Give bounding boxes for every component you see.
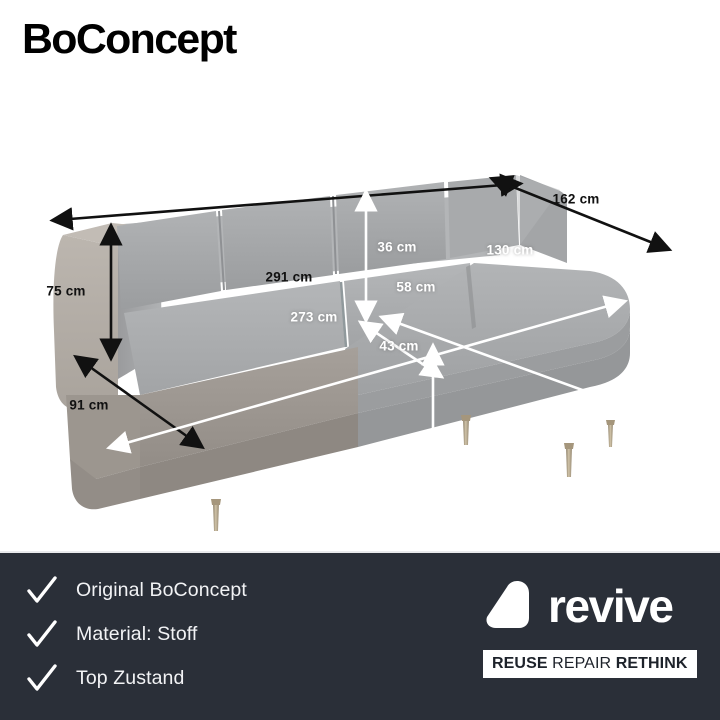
dimension-label-91: 91 cm	[69, 398, 108, 413]
list-item-label: Top Zustand	[76, 667, 184, 690]
sofa-graphic	[53, 175, 630, 531]
check-icon	[27, 576, 57, 606]
dimension-label-130: 130 cm	[487, 243, 534, 258]
product-image-canvas: BoConcept	[0, 0, 720, 720]
list-item-label: Material: Stoff	[76, 623, 197, 646]
tagline-word-rethink: RETHINK	[616, 655, 688, 672]
back-cushion-1	[117, 211, 221, 310]
dimension-label-58: 58 cm	[396, 280, 435, 295]
revive-tagline: REUSE REPAIR RETHINK	[483, 650, 697, 678]
dimension-label-43: 43 cm	[379, 339, 418, 354]
revive-logo-row: revive	[483, 575, 695, 637]
dimension-label-291: 291 cm	[266, 270, 313, 285]
revive-leaf-icon	[483, 578, 539, 634]
brand-logo: BoConcept	[22, 18, 236, 60]
tagline-word-reuse: REUSE	[492, 655, 548, 672]
dimension-label-36: 36 cm	[377, 240, 416, 255]
dimension-label-273: 273 cm	[291, 310, 338, 325]
list-item: Top Zustand	[27, 663, 247, 694]
dimension-label-75: 75 cm	[46, 284, 85, 299]
dimension-label-162: 162 cm	[553, 192, 600, 207]
list-item-label: Original BoConcept	[76, 579, 247, 602]
list-item: Original BoConcept	[27, 575, 247, 606]
trust-banner: Original BoConcept Material: Stoff Top Z…	[0, 553, 720, 720]
list-item: Material: Stoff	[27, 619, 247, 650]
product-illustration: 291 cm 162 cm 75 cm 91 cm 36 cm 130 cm 5…	[0, 95, 720, 550]
tagline-word-repair: REPAIR	[552, 655, 611, 672]
check-icon	[27, 620, 57, 650]
revive-wordmark: revive	[548, 583, 673, 629]
check-icon	[27, 664, 57, 694]
feature-list: Original BoConcept Material: Stoff Top Z…	[27, 575, 247, 694]
left-arm-outer	[53, 235, 118, 410]
revive-logo: revive REUSE REPAIR RETHINK	[483, 575, 695, 678]
